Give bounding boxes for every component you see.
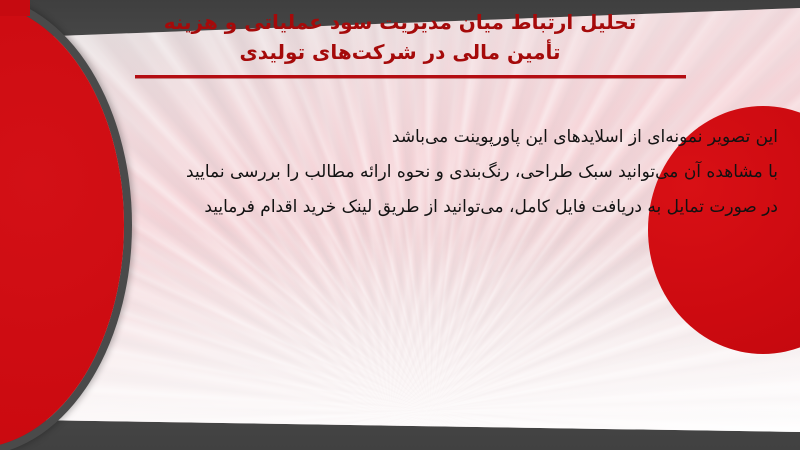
body-line-1: این تصویر نمونه‌ای از اسلایدهای این پاور… <box>38 120 778 155</box>
slide-body-text: این تصویر نمونه‌ای از اسلایدهای این پاور… <box>38 120 778 225</box>
red-lens-left-decoration <box>0 0 220 450</box>
body-line-3: در صورت تمایل به دریافت فایل کامل، می‌تو… <box>38 190 778 225</box>
body-line-2: با مشاهده آن می‌توانید سبک طراحی، رنگ‌بن… <box>38 155 778 190</box>
slide-title-line-1: تحلیل ارتباط میان مدیریت سود عملیاتی و ه… <box>0 8 800 37</box>
red-lens-shape <box>0 2 124 448</box>
title-underline-rule <box>135 75 686 78</box>
slide-title-line-2: تأمین مالی در شرکت‌های تولیدی <box>0 38 800 67</box>
powerpoint-slide: تحلیل ارتباط میان مدیریت سود عملیاتی و ه… <box>0 0 800 450</box>
slide-title: تحلیل ارتباط میان مدیریت سود عملیاتی و ه… <box>0 8 800 67</box>
